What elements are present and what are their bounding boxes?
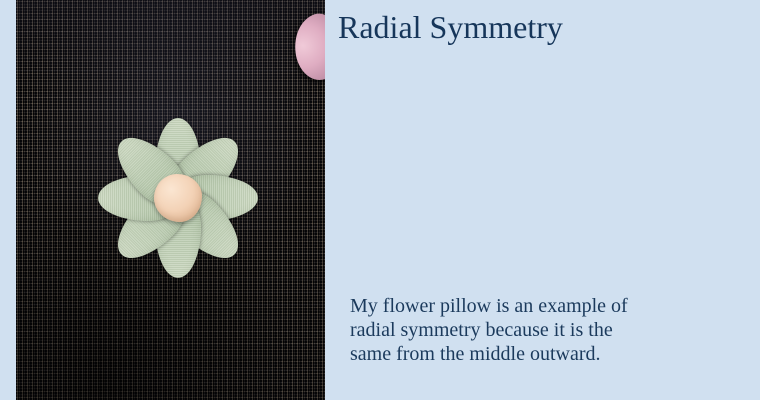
flower-photo (16, 0, 325, 400)
body-text-line: My flower pillow is an example of (350, 294, 680, 318)
body-text-line: radial symmetry because it is the (350, 318, 680, 342)
body-text: My flower pillow is an example of radial… (350, 294, 680, 366)
slide: Radial Symmetry My flower pillow is an e… (0, 0, 760, 400)
body-text-line: same from the middle outward. (350, 342, 680, 366)
page-title: Radial Symmetry (338, 8, 563, 46)
flower-center (154, 174, 202, 222)
